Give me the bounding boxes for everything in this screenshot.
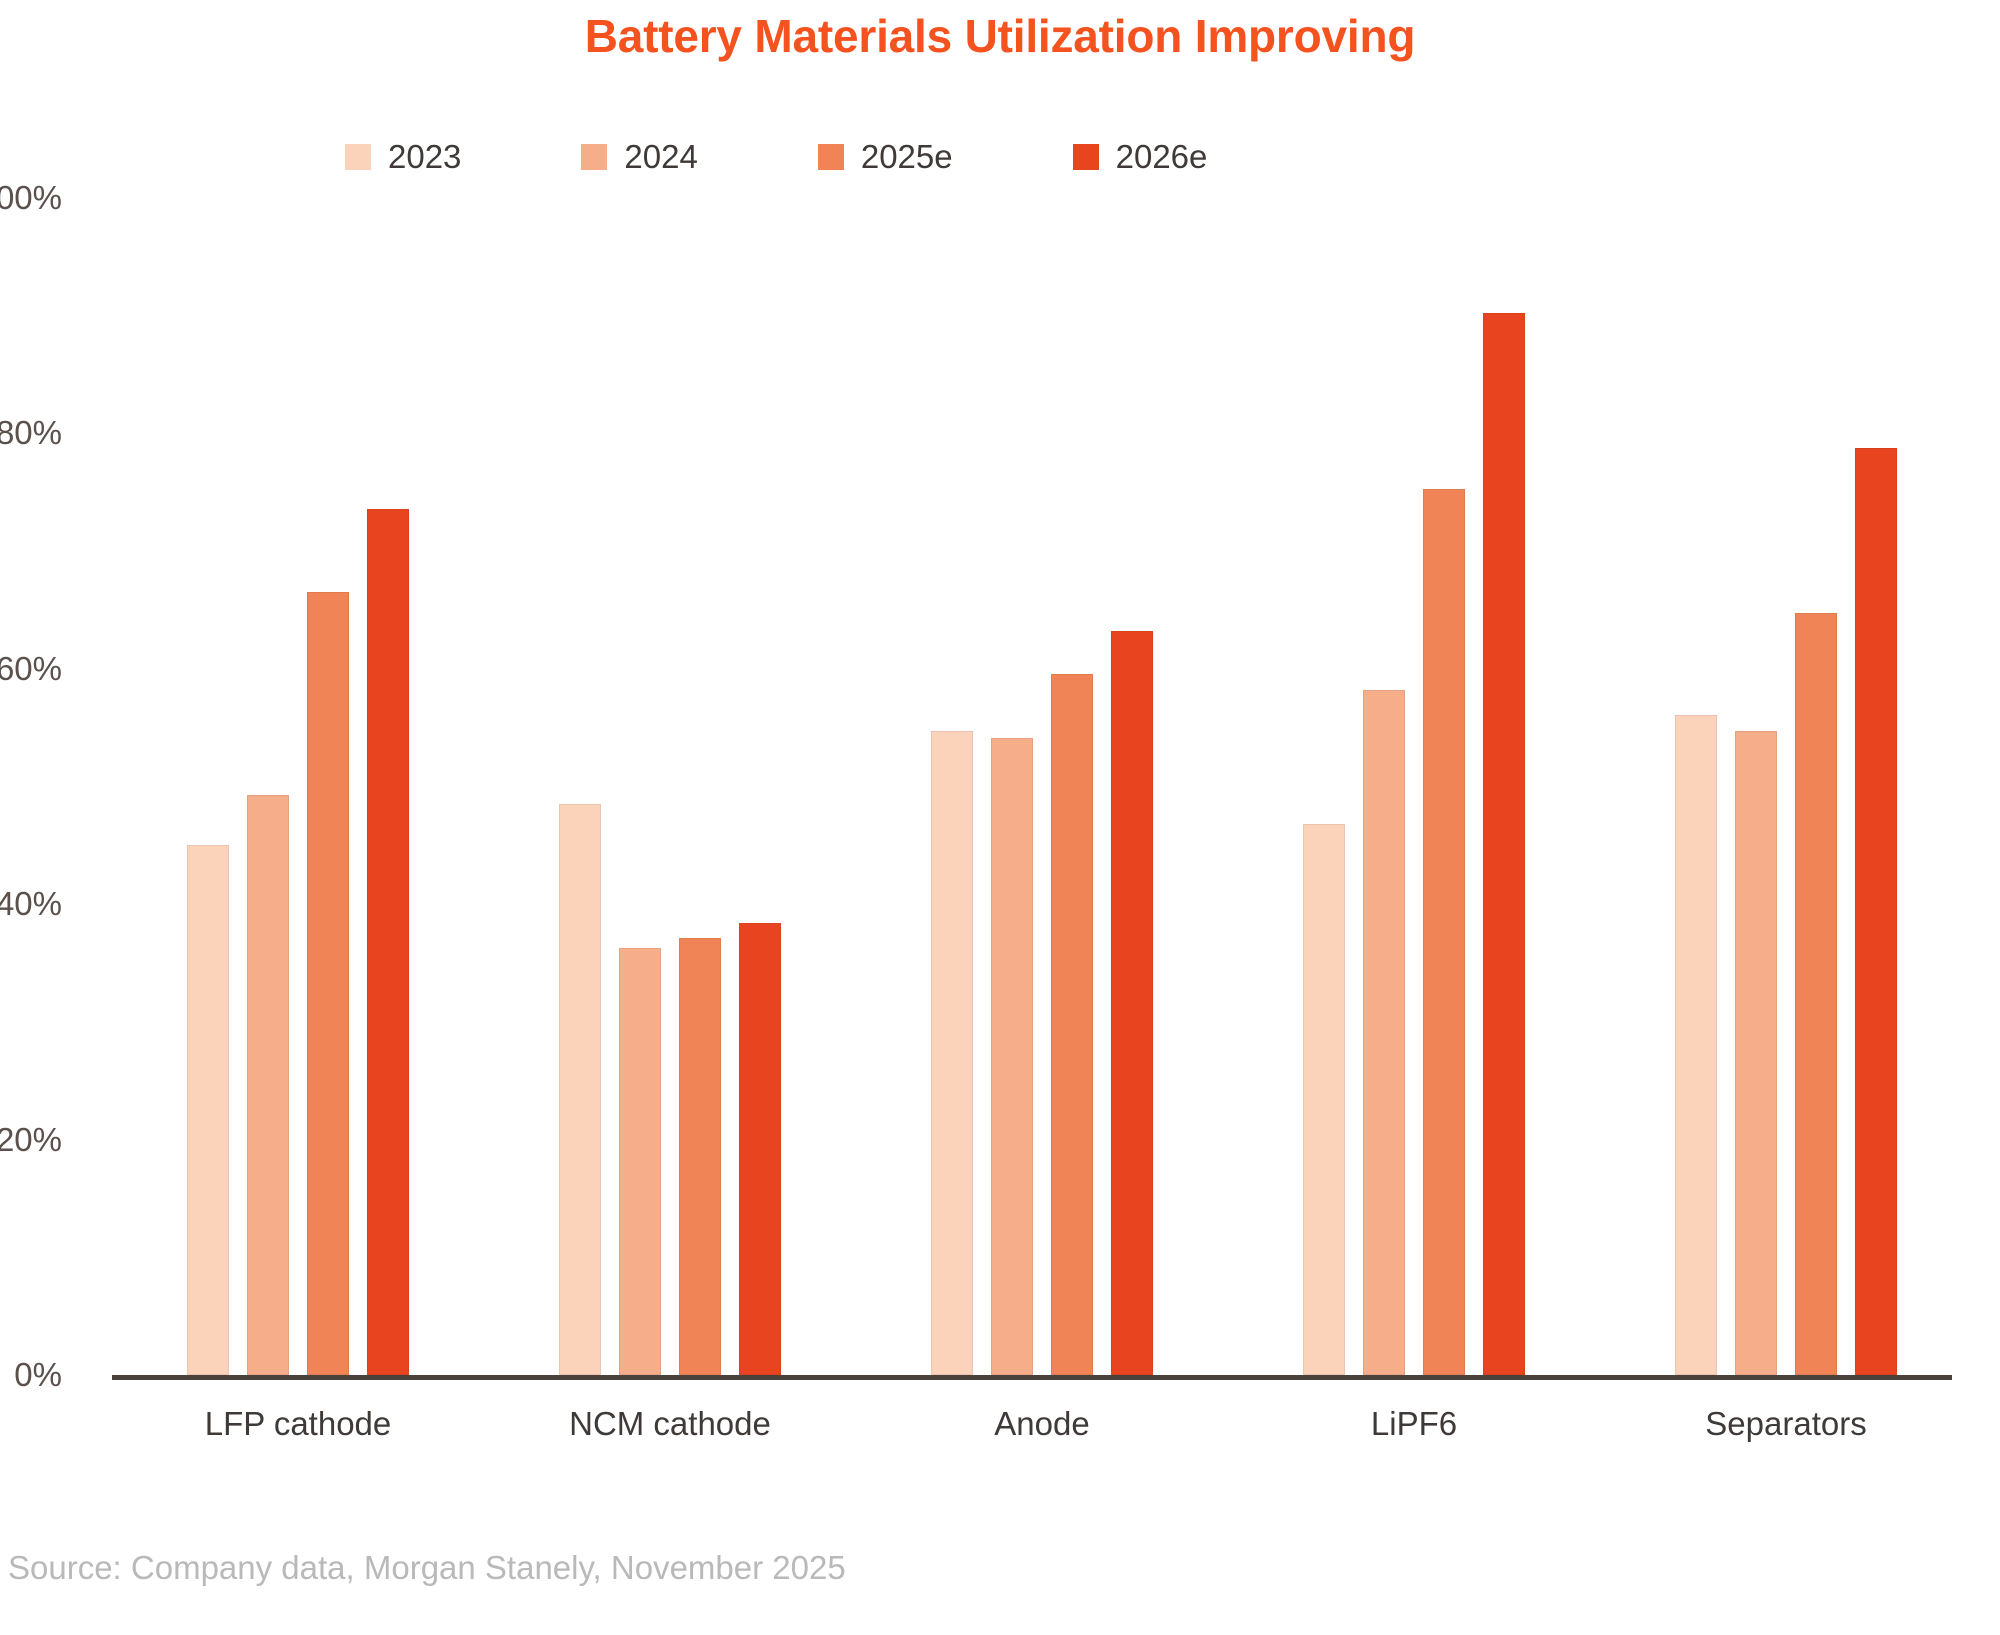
y-axis-tick-label: 80% xyxy=(0,414,62,452)
legend-swatch-icon xyxy=(581,144,607,170)
bar-2026e-lfp-cathode[interactable] xyxy=(367,509,409,1375)
bar-slot xyxy=(1795,198,1837,1375)
bar-2025e-ncm-cathode[interactable] xyxy=(679,938,721,1375)
x-axis-category-label: NCM cathode xyxy=(484,1405,856,1443)
bar-2023-separators[interactable] xyxy=(1675,715,1717,1375)
bar-slot xyxy=(1483,198,1525,1375)
y-axis-tick-label: 100% xyxy=(0,179,62,217)
bar-2024-lfp-cathode[interactable] xyxy=(247,795,289,1375)
bar-groups: LFP cathodeNCM cathodeAnodeLiPF6Separato… xyxy=(112,198,1972,1375)
bar-group-anode: Anode xyxy=(856,198,1228,1375)
bar-group-lfp-cathode: LFP cathode xyxy=(112,198,484,1375)
bar-slot xyxy=(619,198,661,1375)
bar-2025e-lipf6[interactable] xyxy=(1423,489,1465,1375)
bar-slot xyxy=(187,198,229,1375)
bar-group-separators: Separators xyxy=(1600,198,1972,1375)
y-axis-tick-label: 40% xyxy=(0,885,62,923)
bar-slot xyxy=(739,198,781,1375)
bar-slot xyxy=(247,198,289,1375)
bar-group-ncm-cathode: NCM cathode xyxy=(484,198,856,1375)
chart-legend: 202320242025e2026e xyxy=(345,140,1207,173)
legend-item-2023[interactable]: 2023 xyxy=(345,140,461,173)
bar-2026e-lipf6[interactable] xyxy=(1483,313,1525,1375)
bar-2025e-separators[interactable] xyxy=(1795,613,1837,1375)
bar-slot xyxy=(1675,198,1717,1375)
bar-2023-ncm-cathode[interactable] xyxy=(559,804,601,1375)
y-axis-tick-label: 20% xyxy=(0,1121,62,1159)
legend-label: 2025e xyxy=(861,140,953,173)
bar-slot xyxy=(307,198,349,1375)
legend-item-2024[interactable]: 2024 xyxy=(581,140,697,173)
legend-label: 2024 xyxy=(624,140,697,173)
bar-slot xyxy=(1855,198,1897,1375)
bar-2025e-anode[interactable] xyxy=(1051,674,1093,1375)
page-title: Battery Materials Utilization Improving xyxy=(0,8,2000,64)
legend-item-2025e[interactable]: 2025e xyxy=(818,140,953,173)
legend-label: 2023 xyxy=(388,140,461,173)
x-axis-category-label: Separators xyxy=(1600,1405,1972,1443)
legend-swatch-icon xyxy=(818,144,844,170)
bar-2026e-separators[interactable] xyxy=(1855,448,1897,1375)
bar-slot xyxy=(559,198,601,1375)
bar-slot xyxy=(1363,198,1405,1375)
y-axis-tick-label: 0% xyxy=(0,1356,62,1394)
bar-2023-lipf6[interactable] xyxy=(1303,824,1345,1375)
bar-2026e-anode[interactable] xyxy=(1111,631,1153,1375)
x-axis-line xyxy=(112,1375,1952,1380)
bar-slot xyxy=(991,198,1033,1375)
chart-container: Battery Materials Utilization Improving … xyxy=(0,0,2000,1635)
bar-2024-ncm-cathode[interactable] xyxy=(619,948,661,1375)
bar-group-lipf6: LiPF6 xyxy=(1228,198,1600,1375)
legend-label: 2026e xyxy=(1116,140,1208,173)
bar-2023-lfp-cathode[interactable] xyxy=(187,845,229,1375)
bar-2026e-ncm-cathode[interactable] xyxy=(739,923,781,1375)
plot-area: 0%20%40%60%80%100% LFP cathodeNCM cathod… xyxy=(112,198,1972,1375)
x-axis-category-label: LFP cathode xyxy=(112,1405,484,1443)
legend-swatch-icon xyxy=(345,144,371,170)
x-axis-category-label: LiPF6 xyxy=(1228,1405,1600,1443)
bar-slot xyxy=(1051,198,1093,1375)
legend-item-2026e[interactable]: 2026e xyxy=(1073,140,1208,173)
bar-2023-anode[interactable] xyxy=(931,731,973,1375)
bar-slot xyxy=(931,198,973,1375)
bar-slot xyxy=(1423,198,1465,1375)
x-axis-category-label: Anode xyxy=(856,1405,1228,1443)
y-axis-tick-label: 60% xyxy=(0,650,62,688)
bar-2024-separators[interactable] xyxy=(1735,731,1777,1375)
bar-slot xyxy=(679,198,721,1375)
bar-slot xyxy=(367,198,409,1375)
bar-slot xyxy=(1303,198,1345,1375)
bar-slot xyxy=(1111,198,1153,1375)
bar-slot xyxy=(1735,198,1777,1375)
legend-swatch-icon xyxy=(1073,144,1099,170)
source-note: Source: Company data, Morgan Stanely, No… xyxy=(8,1548,846,1588)
bar-2025e-lfp-cathode[interactable] xyxy=(307,592,349,1375)
bar-2024-anode[interactable] xyxy=(991,738,1033,1375)
bar-2024-lipf6[interactable] xyxy=(1363,690,1405,1375)
